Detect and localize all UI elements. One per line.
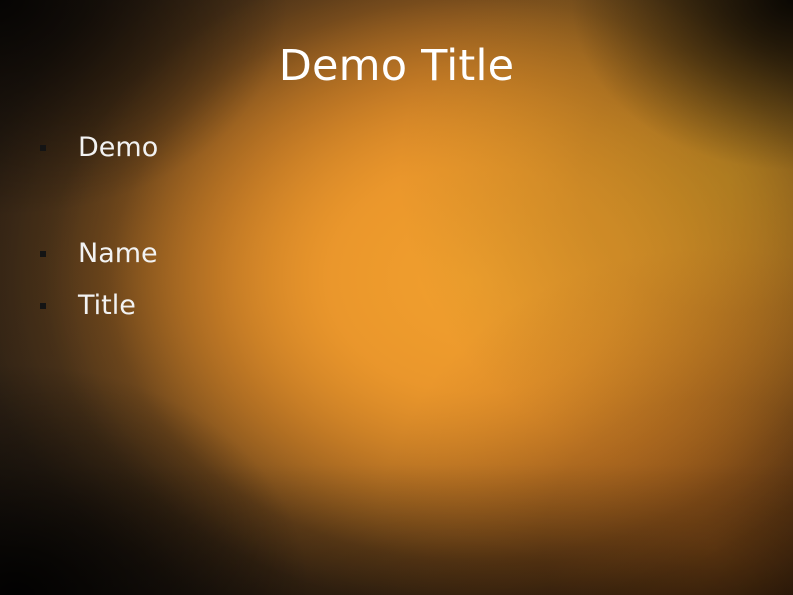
square-bullet-icon: [40, 303, 46, 309]
list-item-label: Demo: [78, 134, 158, 162]
list-item[interactable]: Demo: [40, 134, 600, 186]
list-item-label: Title: [78, 292, 136, 320]
presentation-slide: Demo Title Demo Name Title: [0, 0, 793, 595]
square-bullet-icon: [40, 197, 46, 203]
list-item-label: Name: [78, 240, 158, 268]
list-item[interactable]: Title: [40, 292, 600, 344]
list-item-empty[interactable]: [40, 186, 600, 240]
slide-bullet-list: Demo Name Title: [40, 134, 600, 344]
list-item[interactable]: Name: [40, 240, 600, 292]
slide-content: Demo Title Demo Name Title: [0, 0, 793, 595]
slide-title[interactable]: Demo Title: [0, 42, 793, 91]
square-bullet-icon: [40, 251, 46, 257]
square-bullet-icon: [40, 145, 46, 151]
